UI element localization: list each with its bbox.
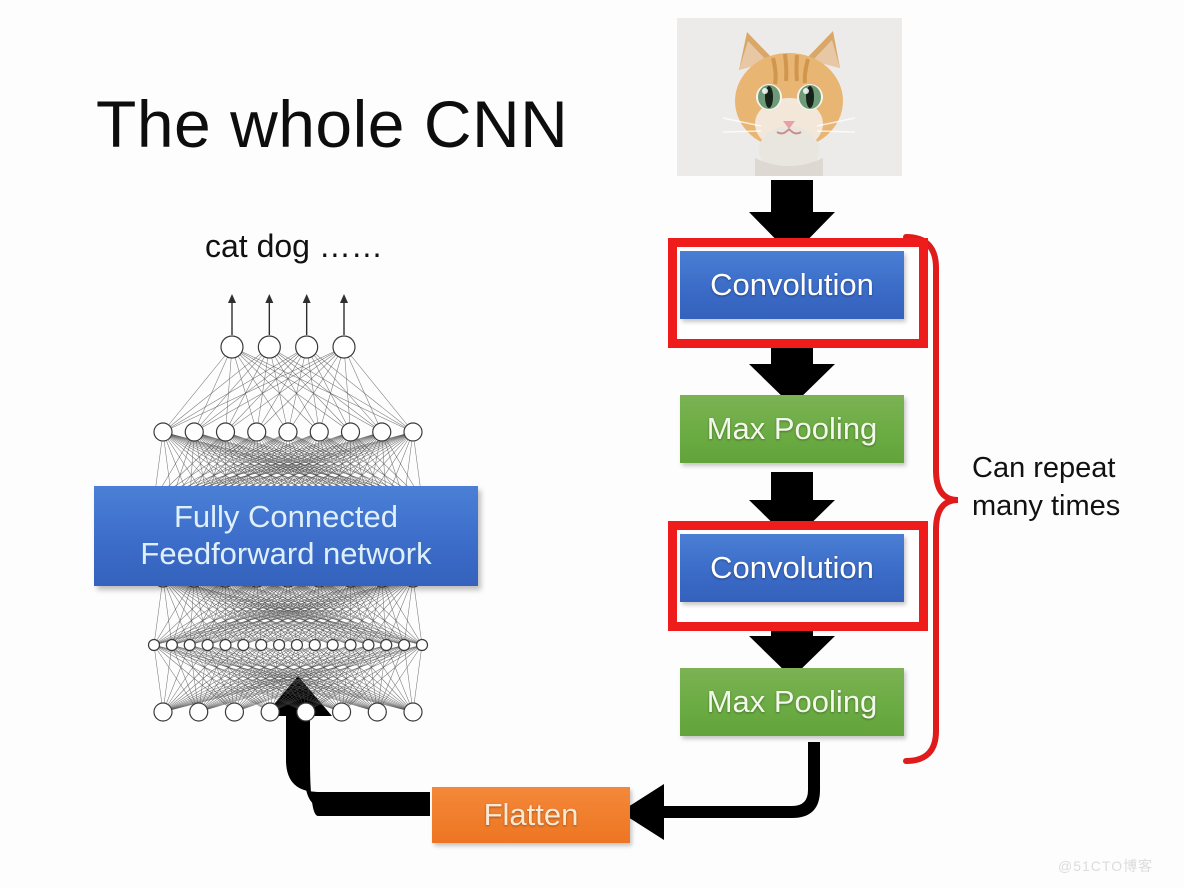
slide-canvas: The whole CNN cat dog ……: [0, 0, 1184, 888]
pipeline-box-maxpooling-2[interactable]: Max Pooling: [680, 668, 904, 736]
pipeline-box-maxpooling-1[interactable]: Max Pooling: [680, 395, 904, 463]
fully-connected-line-1: Fully Connected: [174, 499, 398, 536]
fully-connected-box[interactable]: Fully Connected Feedforward network: [94, 486, 478, 586]
repeat-annotation: Can repeat many times: [972, 450, 1172, 525]
pipeline-box-flatten[interactable]: Flatten: [432, 787, 630, 843]
class-labels-text: cat dog ……: [205, 228, 383, 265]
convolution-1-label: Convolution: [710, 267, 874, 303]
pipeline-box-convolution-1[interactable]: Convolution: [680, 251, 904, 319]
page-title: The whole CNN: [96, 86, 568, 162]
pipeline-box-convolution-2[interactable]: Convolution: [680, 534, 904, 602]
flatten-label: Flatten: [484, 797, 579, 833]
maxpooling-2-label: Max Pooling: [707, 684, 878, 720]
watermark: @51CTO博客: [1058, 856, 1153, 876]
repeat-line-1: Can repeat: [972, 450, 1172, 488]
cat-photo-icon: [677, 18, 902, 176]
input-image: [677, 18, 902, 176]
fully-connected-line-2: Feedforward network: [140, 536, 431, 573]
arrow-flatten-to-network: [264, 676, 430, 816]
repeat-line-2: many times: [972, 488, 1172, 526]
convolution-2-label: Convolution: [710, 550, 874, 586]
arrow-pool2-to-flatten: [620, 742, 820, 840]
maxpooling-1-label: Max Pooling: [707, 411, 878, 447]
